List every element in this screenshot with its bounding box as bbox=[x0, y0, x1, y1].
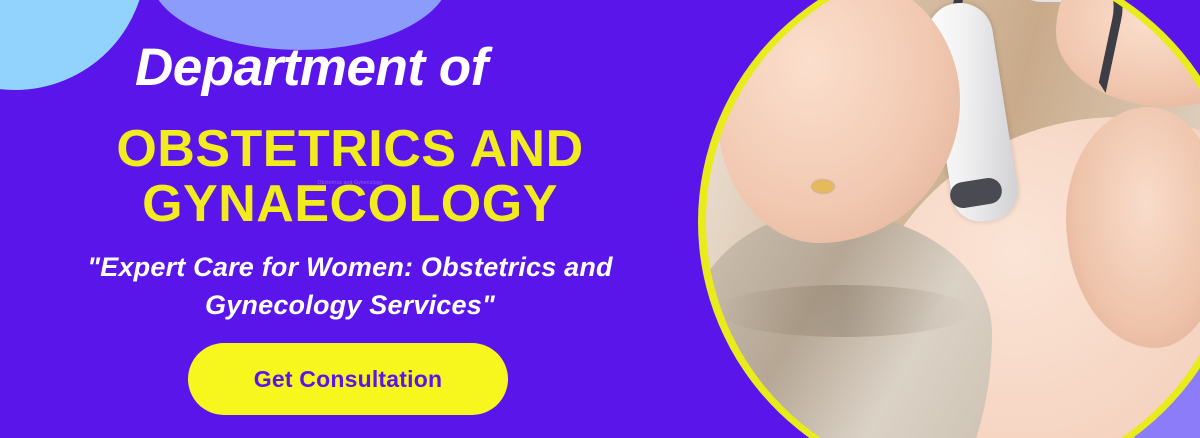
ultrasound-photo bbox=[706, 0, 1200, 438]
ultrasound-photo-image bbox=[706, 0, 1200, 438]
tagline: "Expert Care for Women: Obstetrics and G… bbox=[0, 248, 700, 325]
gown-fold-shape bbox=[717, 285, 971, 337]
tagline-line-2: Gynecology Services" bbox=[0, 286, 700, 324]
banner-copy: Department of OBSTETRICS AND GYNAECOLOGY… bbox=[0, 0, 700, 438]
page-title: OBSTETRICS AND GYNAECOLOGY bbox=[0, 122, 700, 232]
eyebrow-text: Department of bbox=[135, 40, 488, 96]
get-consultation-button[interactable]: Get Consultation bbox=[188, 343, 508, 415]
wedding-ring-icon bbox=[812, 180, 834, 193]
department-hero-banner: Department of OBSTETRICS AND GYNAECOLOGY… bbox=[0, 0, 1200, 438]
tagline-line-1: "Expert Care for Women: Obstetrics and bbox=[0, 248, 700, 286]
watermark-text: Obstetrics and Gynecology bbox=[0, 180, 700, 186]
headline-line-1: OBSTETRICS AND bbox=[0, 122, 700, 177]
